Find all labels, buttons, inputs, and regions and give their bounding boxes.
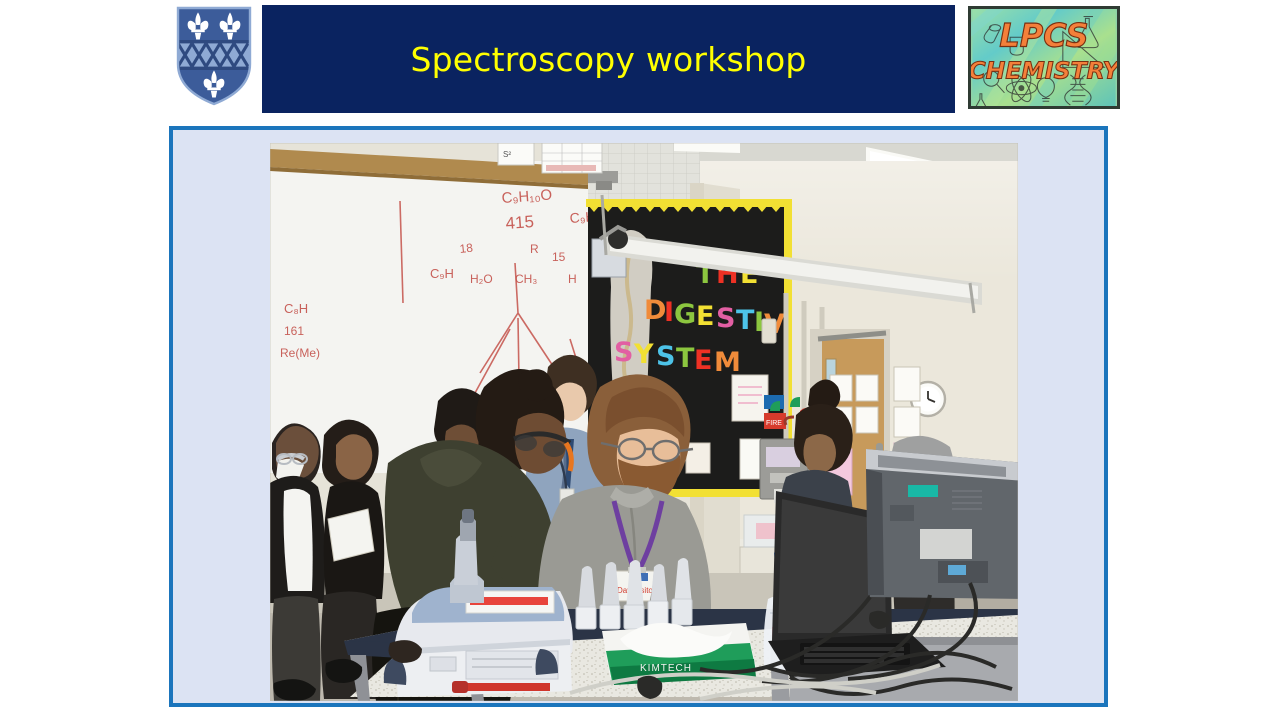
svg-text:S: S [614, 337, 633, 368]
page-title: Spectroscopy workshop [410, 40, 806, 79]
svg-text:C₈H: C₈H [284, 301, 308, 316]
svg-text:FIRE: FIRE [766, 420, 782, 427]
svg-text:E: E [696, 301, 714, 332]
svg-text:CH₃: CH₃ [515, 272, 537, 286]
svg-text:161: 161 [284, 324, 304, 338]
svg-text:E: E [694, 345, 712, 376]
content-frame: C₉H₁₀O 415 C₉H₁₀ 18 R 15 C₉H H₂O CH₃ H C… [169, 126, 1108, 707]
spectroscopy-workshop-photo: C₉H₁₀O 415 C₉H₁₀ 18 R 15 C₉H H₂O CH₃ H C… [270, 143, 1018, 701]
lpcs-chemistry-logo: LPCS CHEMISTRY [968, 6, 1120, 109]
svg-text:KIMTECH: KIMTECH [640, 663, 692, 674]
svg-text:I: I [664, 297, 674, 328]
school-crest-icon [170, 4, 258, 108]
title-bar: Spectroscopy workshop [262, 5, 955, 113]
svg-text:M: M [714, 347, 741, 378]
svg-text:H: H [568, 272, 577, 286]
svg-text:C₉H₁₀O: C₉H₁₀O [501, 187, 553, 207]
svg-text:R: R [530, 242, 539, 256]
svg-text:S²: S² [503, 150, 511, 159]
svg-text:S: S [716, 303, 735, 334]
slide-header: Spectroscopy workshop [0, 0, 1280, 120]
svg-text:C₉H: C₉H [430, 266, 454, 281]
svg-text:18: 18 [459, 241, 474, 256]
svg-text:S: S [656, 341, 675, 372]
lpcs-wordmark: LPCS [999, 17, 1088, 55]
svg-text:H₂O: H₂O [470, 272, 493, 286]
svg-text:415: 415 [505, 212, 535, 233]
svg-text:G: G [674, 299, 696, 330]
svg-text:Re(Me): Re(Me) [280, 346, 320, 360]
svg-text:Y: Y [633, 339, 654, 370]
svg-text:15: 15 [552, 250, 566, 264]
svg-text:T: T [736, 305, 755, 336]
svg-text:T: T [676, 343, 695, 374]
chemistry-wordmark: CHEMISTRY [971, 57, 1117, 85]
